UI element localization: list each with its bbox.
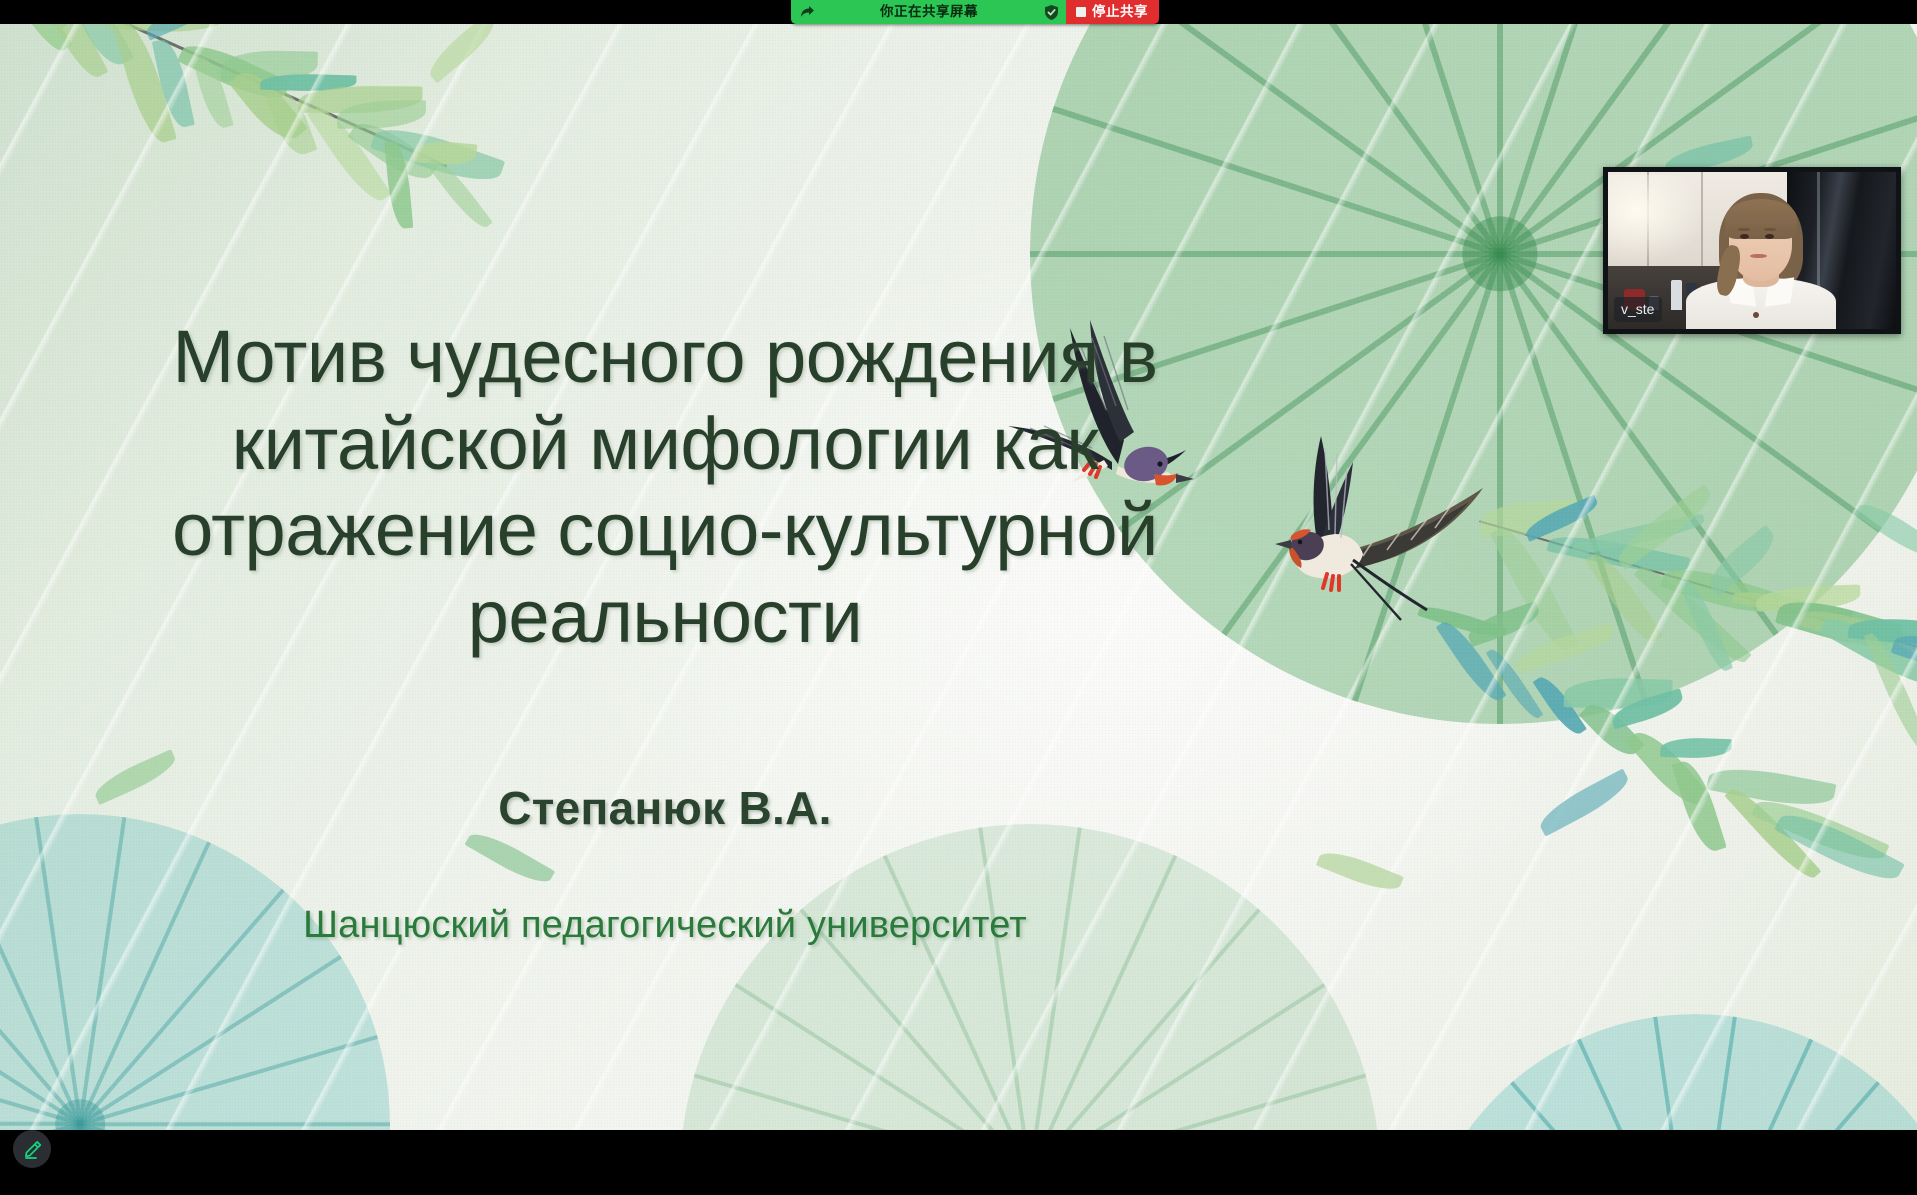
parasol-pale-icon	[680, 824, 1380, 1130]
sharing-status-label: 你正在共享屏幕	[823, 0, 1035, 24]
stop-square-icon	[1076, 7, 1086, 17]
participant-name-badge: v_ste	[1614, 297, 1662, 322]
stop-share-label: 停止共享	[1092, 0, 1148, 24]
swallow-bird-lower-icon	[1255, 424, 1505, 624]
willow-leaf-icon	[423, 24, 501, 83]
slide-title: Мотив чудесного рождения в китайской миф…	[70, 314, 1260, 660]
willow-leaf-icon	[1534, 768, 1634, 836]
screen-share-icon	[799, 5, 815, 20]
shield-check-icon[interactable]	[1043, 4, 1060, 21]
zoom-screenshare-window: 你正在共享屏幕 停止共享	[0, 0, 1917, 1195]
parasol-teal-right-icon	[1415, 1014, 1917, 1130]
annotate-button[interactable]	[13, 1130, 51, 1168]
willow-leaf-icon	[465, 825, 556, 890]
slide-affiliation: Шанцюский педагогический университет	[70, 904, 1260, 947]
participant-figure	[1686, 178, 1836, 329]
willow-branch-top-left-icon	[0, 24, 448, 170]
willow-leaf-icon	[1316, 845, 1404, 898]
sharing-status-segment: 你正在共享屏幕	[791, 0, 1066, 24]
participant-video-tile[interactable]: v_ste	[1603, 167, 1901, 334]
stop-share-button[interactable]: 停止共享	[1066, 0, 1159, 24]
screen-share-bar: 你正在共享屏幕 停止共享	[791, 0, 1159, 24]
parasol-teal-left-icon	[0, 814, 390, 1130]
slide-author: Степанюк В.А.	[70, 781, 1260, 835]
pencil-icon	[22, 1139, 43, 1160]
